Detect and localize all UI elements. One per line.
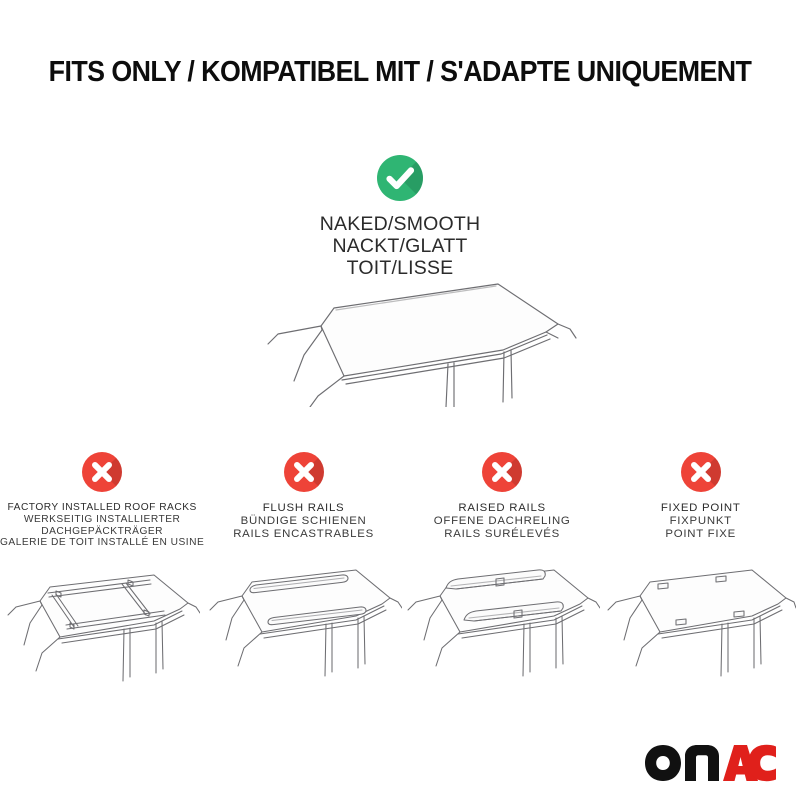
raised-rails-illustration <box>403 546 602 686</box>
label-line-2: FIXPUNKT <box>601 515 800 528</box>
label-line-3: RAILS SURÉLEVÉS <box>403 528 602 541</box>
item-labels: RAISED RAILS OFFENE DACHRELING RAILS SUR… <box>403 502 602 542</box>
item-labels: FLUSH RAILS BÜNDIGE SCHIENEN RAILS ENCAS… <box>204 502 403 542</box>
factory-roof-rack-illustration <box>0 553 204 693</box>
check-circle-icon <box>377 155 423 201</box>
item-labels: FIXED POINT FIXPUNKT POINT FIXE <box>601 502 800 542</box>
label-line-1: FLUSH RAILS <box>204 502 403 515</box>
x-circle-icon <box>482 452 522 492</box>
x-circle-icon <box>284 452 324 492</box>
logo-letter-o <box>645 745 681 781</box>
unsupported-item-raised-rails: RAISED RAILS OFFENE DACHRELING RAILS SUR… <box>403 452 602 702</box>
page-title: FITS ONLY / KOMPATIBEL MIT / S'ADAPTE UN… <box>24 56 776 89</box>
unsupported-roof-types: FACTORY INSTALLED ROOF RACKS WERKSEITIG … <box>0 452 800 702</box>
label-line-1: RAISED RAILS <box>403 502 602 515</box>
label-line-1: FACTORY INSTALLED ROOF RACKS <box>0 502 204 514</box>
unsupported-item-flush-rails: FLUSH RAILS BÜNDIGE SCHIENEN RAILS ENCAS… <box>204 452 403 702</box>
label-line-2: OFFENE DACHRELING <box>403 515 602 528</box>
logo-letter-m <box>685 745 719 781</box>
unsupported-item-factory-roof-racks: FACTORY INSTALLED ROOF RACKS WERKSEITIG … <box>0 452 204 702</box>
fitment-compatibility-infographic: FITS ONLY / KOMPATIBEL MIT / S'ADAPTE UN… <box>0 0 800 800</box>
label-line-3: POINT FIXE <box>601 528 800 541</box>
approved-labels: NAKED/SMOOTH NACKT/GLATT TOIT/LISSE <box>0 214 800 279</box>
x-circle-icon <box>82 452 122 492</box>
label-line-2: BÜNDIGE SCHIENEN <box>204 515 403 528</box>
label-line-4: GALERIE DE TOIT INSTALLÉ EN USINE <box>0 537 204 549</box>
approved-roof-type-block: NAKED/SMOOTH NACKT/GLATT TOIT/LISSE <box>0 155 800 279</box>
unsupported-item-fixed-point: FIXED POINT FIXPUNKT POINT FIXE <box>601 452 800 702</box>
label-line-3: RAILS ENCASTRABLES <box>204 528 403 541</box>
label-line-1: FIXED POINT <box>601 502 800 515</box>
omac-logo <box>644 742 776 784</box>
fixed-point-illustration <box>601 546 800 686</box>
logo-letter-c <box>749 745 777 781</box>
approved-label-line-2: NACKT/GLATT <box>0 236 800 258</box>
approved-label-line-1: NAKED/SMOOTH <box>0 214 800 236</box>
item-labels: FACTORY INSTALLED ROOF RACKS WERKSEITIG … <box>0 502 204 549</box>
x-circle-icon <box>681 452 721 492</box>
smooth-car-roof-illustration <box>258 272 578 407</box>
label-line-3: DACHGEPÄCKTRÄGER <box>0 526 204 538</box>
flush-rails-illustration <box>204 546 403 686</box>
label-line-2: WERKSEITIG INSTALLIERTER <box>0 514 204 526</box>
